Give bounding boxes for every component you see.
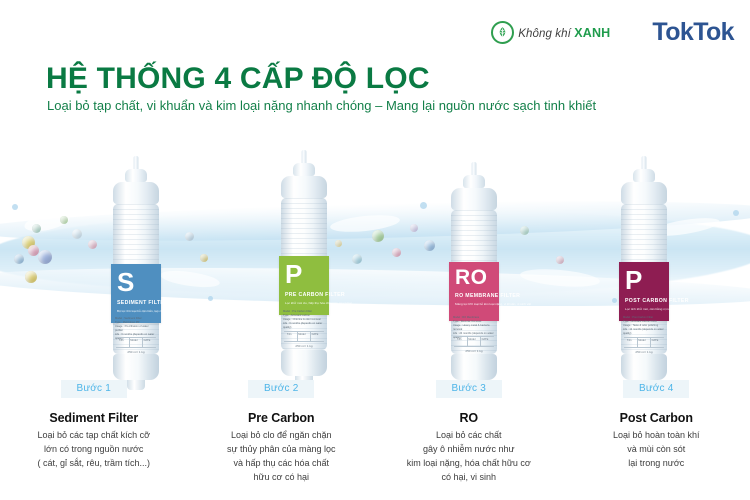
spec-col: Tên (287, 333, 291, 336)
cartridge-label: RO RO MEMBRANE FILTER Màng lọc RO loại b… (449, 262, 499, 321)
water-droplet (612, 298, 617, 303)
cartridge-label: P POST CARBON FILTER Lọc tinh khử mùi, c… (619, 262, 669, 321)
cartridge-weight: 250 ml / 1 kg (621, 350, 667, 354)
cartridge-body: RO RO MEMBRANE FILTER Màng lọc RO loại b… (451, 210, 497, 354)
cartridge-foot (451, 354, 497, 380)
spec-col: Tên (457, 338, 461, 341)
cartridge-foot (621, 354, 667, 380)
cartridge-body: S SEDIMENT FILTER Bộ lọc thô loại bỏ cặn… (113, 204, 159, 354)
cartridge-body: P POST CARBON FILTER Lọc tinh khử mùi, c… (621, 204, 667, 354)
step-badge: Bước 2 (248, 380, 314, 398)
color-bubble (372, 230, 384, 242)
cartridge-post-carbon-filter[interactable]: P POST CARBON FILTER Lọc tinh khử mùi, c… (621, 156, 667, 390)
color-bubble (32, 224, 41, 233)
color-bubble (410, 224, 418, 232)
cartridge-spec-text: Model : Post Carbon Filter Type : Activa… (623, 316, 665, 336)
partner-logo-toktok[interactable]: TokTok (652, 18, 734, 47)
filter-steps-row: Bước 1 Sediment Filter Loại bỏ các tạp c… (0, 378, 750, 485)
cartridge-nozzle (451, 162, 497, 188)
spec-col: DATE (482, 338, 489, 341)
color-bubble (28, 245, 39, 256)
cartridge-weight: 250 ml / 1 kg (113, 350, 159, 354)
color-bubble (14, 254, 24, 264)
color-bubble (392, 248, 401, 257)
cartridge-weight: 250 ml / 1 kg (451, 349, 497, 353)
step-description: Loại bỏ các tạp chất kích cỡ lớn có tron… (8, 429, 180, 471)
brand-logo-text-bold: XANH (574, 26, 610, 40)
step-title: Post Carbon (571, 411, 743, 425)
cartridge-weight: 250 ml / 1 kg (281, 344, 327, 348)
cartridge-label-fine: Lọc khử mùi clo, hấp thụ hóa chất hữu cơ… (285, 301, 324, 306)
water-droplet (12, 204, 18, 210)
cartridge-cap (451, 188, 497, 210)
brand-logo-text-light: Không khí (518, 28, 574, 40)
cartridge-label: S SEDIMENT FILTER Bộ lọc thô loại bỏ cặn… (111, 264, 161, 323)
cartridge-initial: P (285, 262, 324, 287)
cartridge-spec-table: Tên Model DATE (116, 337, 156, 348)
brand-logo-text: Không khí XANH (518, 26, 610, 40)
cartridge-initial: P (625, 268, 664, 293)
color-bubble (72, 229, 82, 239)
cartridge-spec-table: Tên Model DATE (284, 331, 324, 342)
step-description: Loại bỏ hoàn toàn khí và mùi còn sót lại… (571, 429, 743, 471)
cartridge-label-name: SEDIMENT FILTER (117, 300, 156, 306)
spec-col: Model (468, 338, 475, 341)
step-title: RO (383, 411, 555, 425)
spec-col: DATE (144, 339, 151, 342)
poster-canvas: Không khí XANH TokTok HỆ THỐNG 4 CẤP ĐỘ … (0, 0, 750, 500)
spec-col: Tên (627, 339, 631, 342)
spec-col: Model (130, 339, 137, 342)
cartridge-initial: RO (455, 268, 494, 288)
water-droplet (420, 202, 427, 209)
step-description: Loại bỏ các chất gây ô nhiễm nước như ki… (383, 429, 555, 485)
cartridge-pre-carbon-filter[interactable]: P PRE CARBON FILTER Lọc khử mùi clo, hấp… (281, 150, 327, 386)
cartridge-label-name: PRE CARBON FILTER (285, 292, 324, 298)
color-bubble (424, 240, 435, 251)
step-badge: Bước 3 (436, 380, 502, 398)
cartridge-cap (281, 176, 327, 198)
step-card-3: Bước 3 RO Loại bỏ các chất gây ô nhiễm n… (375, 378, 563, 485)
leaf-circle-icon (491, 21, 514, 44)
cartridge-sediment-filter[interactable]: S SEDIMENT FILTER Bộ lọc thô loại bỏ cặn… (113, 156, 159, 390)
cartridge-spec-table: Tên Model DATE (624, 337, 664, 348)
color-bubble (185, 232, 194, 241)
spec-col: DATE (312, 333, 319, 336)
water-droplet (208, 296, 213, 301)
step-title: Pre Carbon (196, 411, 368, 425)
color-bubble (335, 240, 342, 247)
cartridge-spec-table: Tên Model DATE (454, 336, 494, 347)
color-bubble (38, 250, 52, 264)
step-badge: Bước 1 (61, 380, 127, 398)
cartridge-foot (281, 350, 327, 376)
cartridge-label-fine: Lọc tinh khử mùi, cân bằng vị nước sau m… (625, 307, 664, 312)
color-bubble (88, 240, 97, 249)
cartridge-label-name: RO MEMBRANE FILTER (455, 293, 494, 299)
page-subtitle: Loại bỏ tạp chất, vi khuẩn và kim loại n… (47, 98, 596, 113)
spec-col: Tên (119, 339, 123, 342)
page-title: HỆ THỐNG 4 CẤP ĐỘ LỌC (46, 62, 430, 96)
cartridge-label: P PRE CARBON FILTER Lọc khử mùi clo, hấp… (279, 256, 329, 315)
step-card-1: Bước 1 Sediment Filter Loại bỏ các tạp c… (0, 378, 188, 485)
cartridge-nozzle (281, 150, 327, 176)
color-bubble (60, 216, 68, 224)
step-badge: Bước 4 (623, 380, 689, 398)
cartridge-spec-text: Model : Pre Carbon Filter Type : Activat… (283, 310, 325, 330)
brand-logo-khong-khi-xanh[interactable]: Không khí XANH (491, 21, 610, 44)
cartridge-initial: S (117, 270, 156, 295)
color-bubble (556, 256, 564, 264)
color-bubble (352, 254, 362, 264)
cartridge-nozzle (113, 156, 159, 182)
cartridge-cap (113, 182, 159, 204)
header-logos: Không khí XANH TokTok (491, 18, 734, 47)
spec-col: Model (638, 339, 645, 342)
cartridge-ro-membrane-filter[interactable]: RO RO MEMBRANE FILTER Màng lọc RO loại b… (451, 162, 497, 390)
spec-col: DATE (652, 339, 659, 342)
cartridge-label-name: POST CARBON FILTER (625, 298, 664, 304)
cartridge-label-fine: Bộ lọc thô loại bỏ cặn bẩn, tạp chất có … (117, 309, 156, 314)
water-droplet (733, 210, 739, 216)
cartridge-nozzle (621, 156, 667, 182)
step-card-4: Bước 4 Post Carbon Loại bỏ hoàn toàn khí… (563, 378, 750, 485)
color-bubble (25, 271, 37, 283)
cartridge-foot (113, 354, 159, 380)
step-description: Loại bỏ clo để ngăn chặn sự thủy phân củ… (196, 429, 368, 485)
color-bubble (520, 226, 529, 235)
step-card-2: Bước 2 Pre Carbon Loại bỏ clo để ngăn ch… (188, 378, 376, 485)
spec-col: Model (298, 333, 305, 336)
cartridge-body: P PRE CARBON FILTER Lọc khử mùi clo, hấp… (281, 198, 327, 350)
cartridge-cap (621, 182, 667, 204)
cartridge-label-fine: Màng lọc RO loại bỏ kim loại nặng, vi kh… (455, 302, 494, 307)
color-bubble (200, 254, 208, 262)
step-title: Sediment Filter (8, 411, 180, 425)
